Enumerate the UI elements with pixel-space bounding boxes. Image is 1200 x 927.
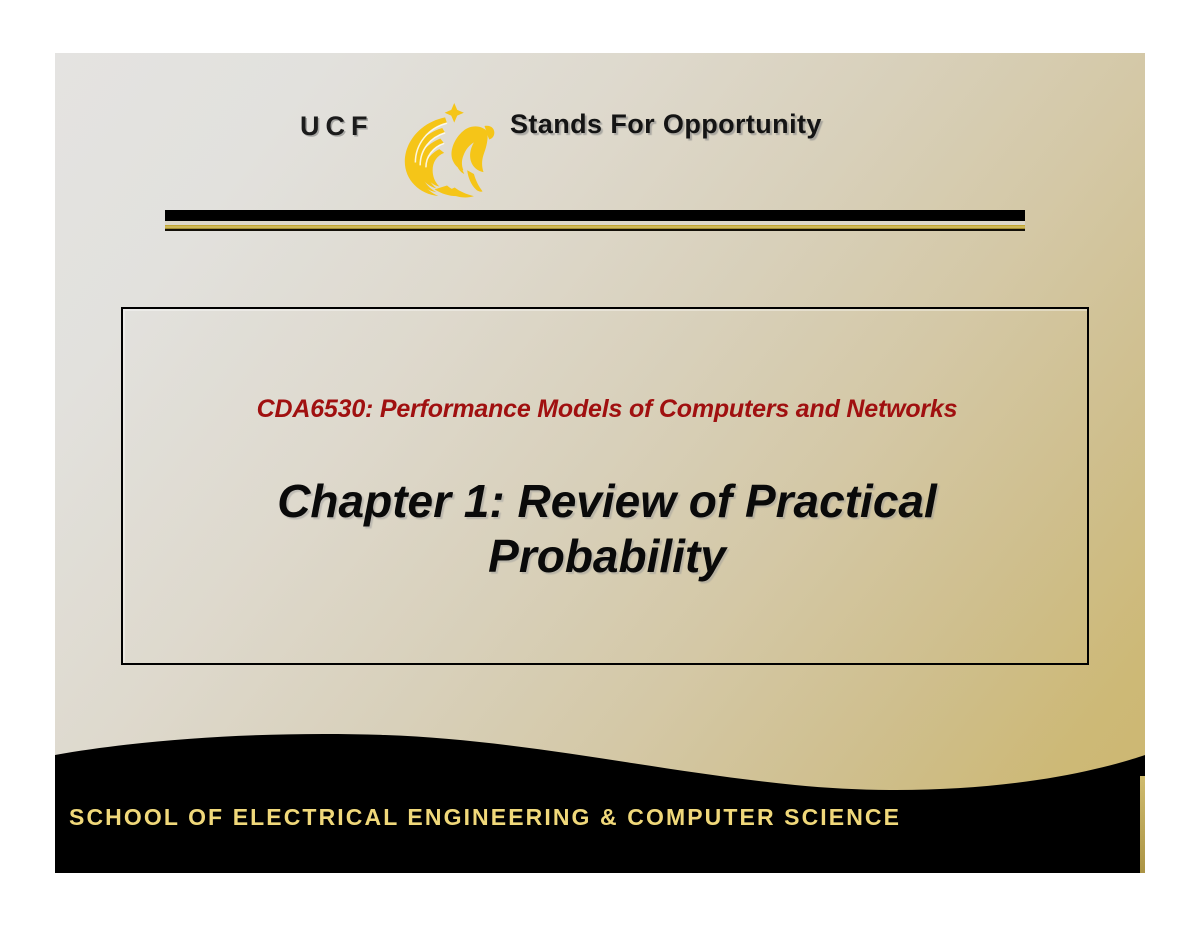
- page-title: Chapter 1: Review of Practical Probabili…: [123, 474, 1091, 584]
- divider-black-bar: [165, 210, 1025, 221]
- title-content-box: CDA6530: Performance Models of Computers…: [121, 307, 1089, 665]
- ucf-wordmark: UCF: [300, 111, 374, 142]
- school-name-label: SCHOOL OF ELECTRICAL ENGINEERING & COMPU…: [69, 804, 1145, 831]
- page-title-line-2: Probability: [123, 529, 1091, 584]
- page-title-line-1: Chapter 1: Review of Practical: [123, 474, 1091, 529]
- course-subtitle: CDA6530: Performance Models of Computers…: [123, 395, 1091, 424]
- header-divider-rule: [165, 210, 1025, 232]
- ucf-pegasus-logo: [400, 101, 496, 201]
- slide-header: UCF: [55, 93, 1145, 203]
- presentation-slide: UCF: [55, 53, 1145, 873]
- slide-footer: SCHOOL OF ELECTRICAL ENGINEERING & COMPU…: [55, 733, 1145, 873]
- slide-canvas: UCF: [0, 0, 1200, 927]
- divider-thin-line: [165, 229, 1025, 231]
- ucf-tagline: Stands For Opportunity: [510, 109, 822, 140]
